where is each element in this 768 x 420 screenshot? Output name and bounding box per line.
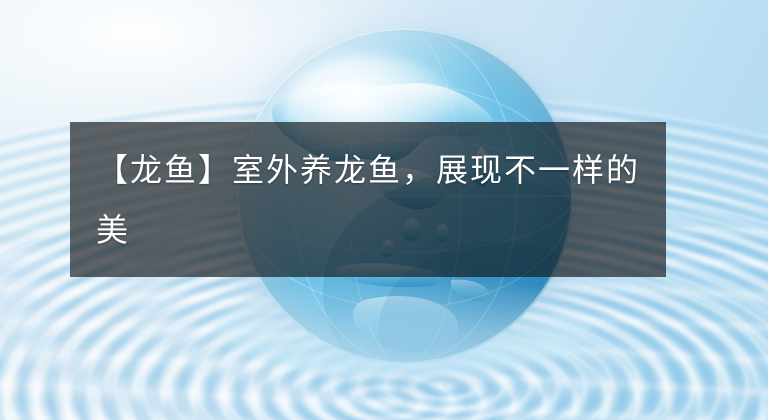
title-overlay-band: 【龙鱼】室外养龙鱼，展现不一样的美 bbox=[70, 122, 666, 277]
page-title: 【龙鱼】室外养龙鱼，展现不一样的美 bbox=[96, 140, 640, 260]
globe-water-contact bbox=[217, 277, 593, 378]
article-cover-banner: 【龙鱼】室外养龙鱼，展现不一样的美 bbox=[0, 0, 768, 420]
